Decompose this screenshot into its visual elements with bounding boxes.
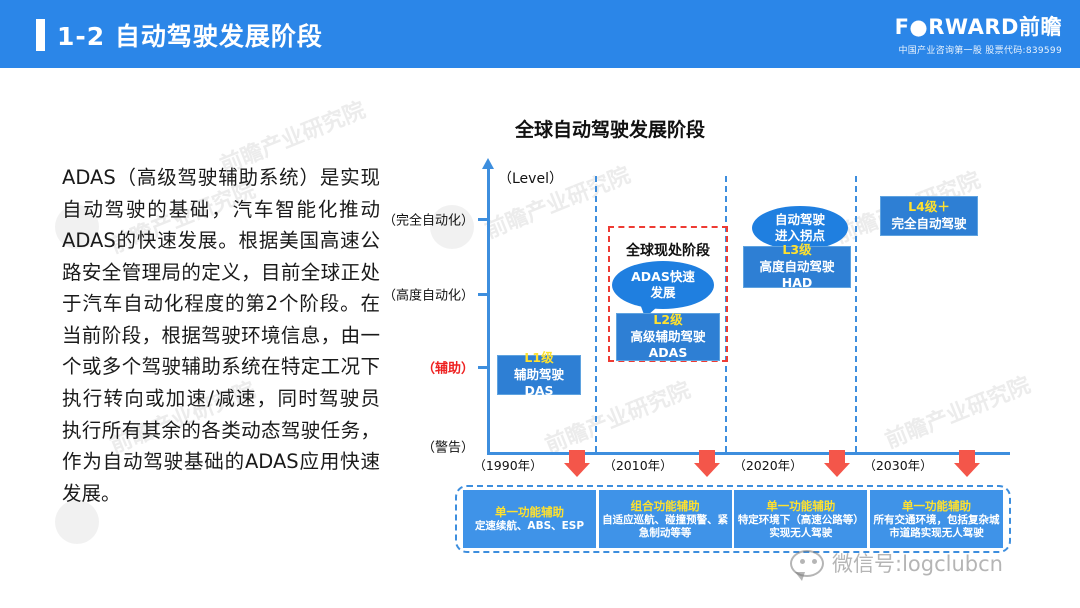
- level-desc-l1: 辅助驾驶DAS: [500, 367, 578, 401]
- chart-plot-area: （Level） （完全自动化） （高度自动化） （辅助） （警告） 全球现处阶段…: [440, 158, 1010, 458]
- level-box-l1[interactable]: L1级 辅助驾驶DAS: [497, 355, 581, 395]
- callout-adas-growth[interactable]: ADAS快速 发展: [612, 261, 714, 309]
- y-tick-full-automation: [478, 218, 489, 221]
- x-label-2020: （2020年）: [733, 455, 802, 474]
- brand-logo: F●RWARD前瞻 中国产业咨询第一股 股票代码:839599: [895, 16, 1062, 56]
- feature-desc-4: 所有交通环境，包括复杂城市道路实现无人驾驶: [873, 514, 1000, 540]
- y-label-high-automation: （高度自动化）: [383, 285, 474, 304]
- logo-tagline: 中国产业咨询第一股 股票代码:839599: [895, 43, 1062, 56]
- level-tag-l4: L4级＋: [883, 199, 975, 216]
- down-arrow-icon: [564, 450, 590, 477]
- level-desc-l2-line2: ADAS: [619, 345, 717, 362]
- feature-box-4[interactable]: 单一功能辅助 所有交通环境，包括复杂城市道路实现无人驾驶: [870, 490, 1003, 548]
- down-arrow-icon: [694, 450, 720, 477]
- feature-desc-1: 定速续航、ABS、ESP: [475, 520, 584, 533]
- feature-box-1[interactable]: 单一功能辅助 定速续航、ABS、ESP: [463, 490, 596, 548]
- y-label-warning: （警告）: [422, 437, 474, 456]
- header-accent-bar: [36, 19, 45, 51]
- slide-page: 前瞻产业研究院 前瞻产业研究院 前瞻产业研究院 前瞻产业研究院 前瞻产业研究院 …: [0, 0, 1080, 608]
- feature-title-4: 单一功能辅助: [902, 499, 971, 513]
- level-tag-l3: L3级: [746, 242, 848, 259]
- level-desc-l3: 高度自动驾驶HAD: [746, 259, 848, 293]
- y-axis: [487, 166, 490, 454]
- body-paragraph: ADAS（高级驾驶辅助系统）是实现自动驾驶的基础，汽车智能化推动ADAS的快速发…: [62, 162, 380, 509]
- logo-wordmark: F●RWARD前瞻: [895, 16, 1062, 39]
- callout-adas-line1: ADAS快速: [631, 269, 695, 285]
- feature-desc-3: 特定环境下（高速公路等）实现无人驾驶: [737, 514, 864, 540]
- x-label-2010: （2010年）: [603, 455, 672, 474]
- callout-inflection-line1: 自动驾驶: [775, 212, 825, 228]
- level-desc-l2-line1: 高级辅助驾驶: [619, 329, 717, 346]
- callout-adas-line2: 发展: [650, 285, 675, 301]
- page-header: 1-2 自动驾驶发展阶段 F●RWARD前瞻 中国产业咨询第一股 股票代码:83…: [0, 0, 1080, 68]
- level-tag-l2: L2级: [619, 312, 717, 329]
- feature-desc-2: 自适应巡航、碰撞预警、紧急制动等等: [602, 514, 729, 540]
- wechat-icon: [790, 550, 824, 577]
- down-arrow-icon: [954, 450, 980, 477]
- divider-2030: [855, 176, 857, 452]
- x-label-1990: （1990年）: [473, 455, 542, 474]
- feature-title-1: 单一功能辅助: [495, 505, 564, 519]
- feature-box-2[interactable]: 组合功能辅助 自适应巡航、碰撞预警、紧急制动等等: [599, 490, 732, 548]
- y-tick-assist: [478, 366, 489, 369]
- y-tick-high-automation: [478, 293, 489, 296]
- down-arrow-icon: [824, 450, 850, 477]
- feature-box-container: 单一功能辅助 定速续航、ABS、ESP 组合功能辅助 自适应巡航、碰撞预警、紧急…: [455, 485, 1011, 553]
- page-title: 1-2 自动驾驶发展阶段: [57, 17, 323, 53]
- level-box-l2[interactable]: L2级 高级辅助驾驶 ADAS: [616, 313, 720, 361]
- level-desc-l4: 完全自动驾驶: [883, 216, 975, 233]
- chart-title: 全球自动驾驶发展阶段: [515, 115, 705, 142]
- level-box-l3[interactable]: L3级 高度自动驾驶HAD: [743, 246, 851, 288]
- feature-title-3: 单一功能辅助: [766, 499, 835, 513]
- y-label-full-automation: （完全自动化）: [383, 210, 474, 229]
- feature-title-2: 组合功能辅助: [631, 499, 700, 513]
- y-axis-unit-label: （Level）: [498, 168, 563, 188]
- divider-2010: [595, 176, 597, 452]
- x-label-2030: （2030年）: [863, 455, 932, 474]
- y-label-assist: （辅助）: [422, 358, 474, 377]
- current-stage-label: 全球现处阶段: [626, 240, 710, 260]
- level-box-l4[interactable]: L4级＋ 完全自动驾驶: [880, 196, 978, 236]
- level-tag-l1: L1级: [500, 350, 578, 367]
- feature-box-3[interactable]: 单一功能辅助 特定环境下（高速公路等）实现无人驾驶: [734, 490, 867, 548]
